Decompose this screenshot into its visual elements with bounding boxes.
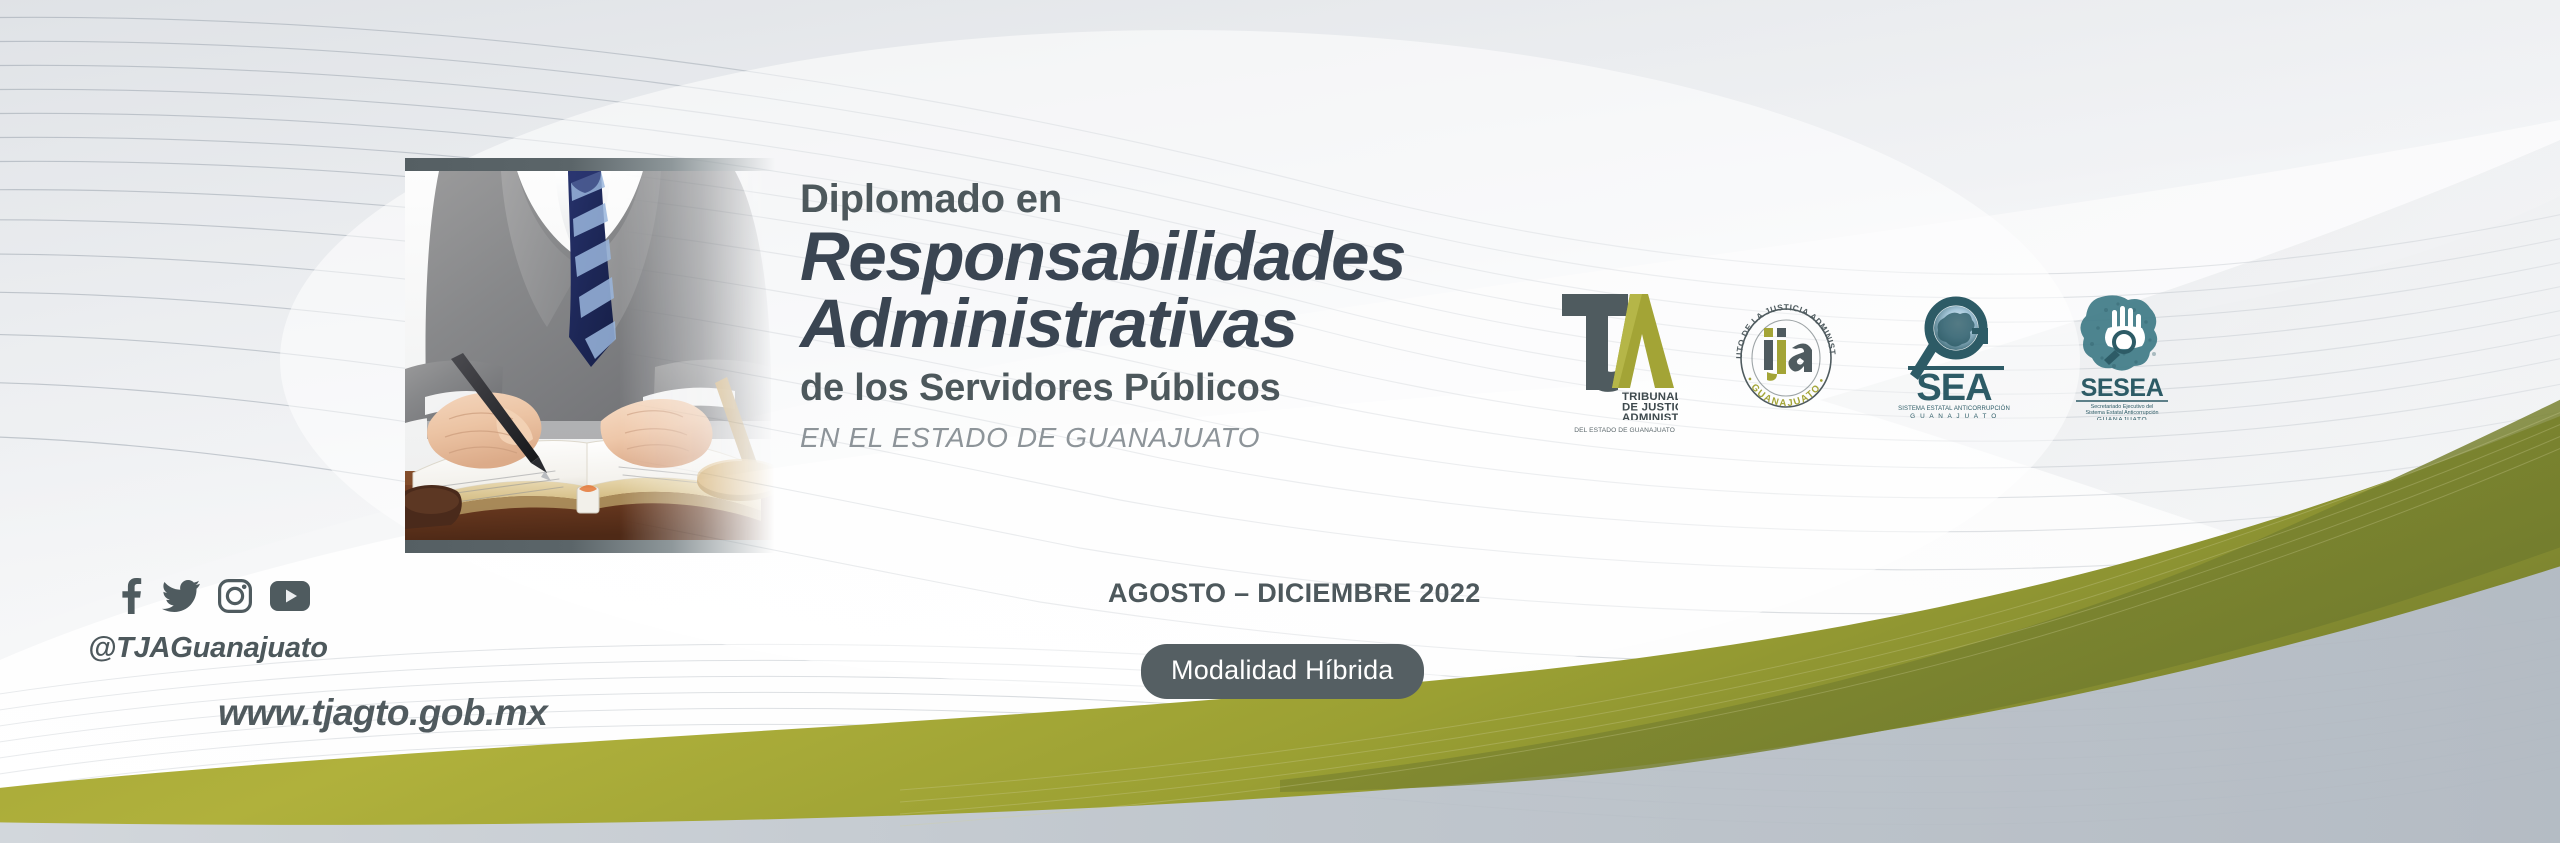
heading-main-line-2: Administrativas — [800, 289, 1580, 358]
logo-sesea-mark: SESEA Secretariado Ejecutivo del Sistema… — [2058, 288, 2186, 420]
website-url[interactable]: www.tjagto.gob.mx — [218, 692, 547, 734]
logo-sea-wordmark: SEA — [1916, 367, 1992, 409]
photo-frame-top-bar — [405, 158, 775, 171]
instagram-icon[interactable] — [218, 579, 252, 618]
hero-photo — [405, 158, 775, 553]
social-icons — [118, 578, 310, 619]
logo-tja: TRIBUNAL DE JUSTICIA ADMINISTRATIVA DEL … — [1556, 288, 1678, 435]
logo-tja-subline: DEL ESTADO DE GUANAJUATO — [1556, 423, 1678, 435]
banner-root: Diplomado en Responsabilidades Administr… — [0, 0, 2560, 843]
modality-badge[interactable]: Modalidad Híbrida — [1141, 644, 1424, 699]
logo-sea-mark: SEA SISTEMA ESTATAL ANTICORRUPCIÓN G U A… — [1894, 288, 2014, 420]
logo-sea: SEA SISTEMA ESTATAL ANTICORRUPCIÓN G U A… — [1894, 288, 2014, 425]
title-block: Diplomado en Responsabilidades Administr… — [800, 178, 1580, 454]
photo-frame-bottom-bar — [405, 540, 775, 553]
logo-ija-ring-bottom: • GUANAJUATO • — [1744, 375, 1829, 409]
logo-sesea-line3: GUANAJUATO — [2097, 417, 2147, 421]
heading-pretitle: Diplomado en — [800, 178, 1580, 220]
svg-text:DEL ESTADO DE GUANAJUATO: DEL ESTADO DE GUANAJUATO — [1574, 427, 1675, 434]
photo-image — [405, 171, 775, 540]
logo-sea-line1: SISTEMA ESTATAL ANTICORRUPCIÓN — [1898, 405, 2010, 412]
logo-ija-mark: INSTITUTO DE LA JUSTICIA ADMINISTRATIVA … — [1722, 288, 1850, 420]
logo-ija: INSTITUTO DE LA JUSTICIA ADMINISTRATIVA … — [1722, 288, 1850, 425]
heading-main-line-1: Responsabilidades — [800, 222, 1580, 291]
logo-tja-mark: TRIBUNAL DE JUSTICIA ADMINISTRATIVA — [1556, 288, 1678, 420]
logo-sesea-line2: Sistema Estatal Anticorrupción — [2085, 410, 2158, 416]
photo-illustration — [405, 171, 775, 540]
youtube-icon[interactable] — [270, 581, 310, 616]
logo-sesea: SESEA Secretariado Ejecutivo del Sistema… — [2058, 288, 2186, 425]
heading-subtitle: de los Servidores Públicos — [800, 368, 1580, 410]
logo-strip: TRIBUNAL DE JUSTICIA ADMINISTRATIVA DEL … — [1556, 288, 2186, 435]
logo-sesea-wordmark: SESEA — [2081, 374, 2164, 402]
logo-sea-line2: G U A N A J U A T O — [1910, 413, 1998, 420]
heading-state: EN EL ESTADO DE GUANAJUATO — [800, 422, 1580, 454]
twitter-icon[interactable] — [162, 580, 200, 617]
logo-tja-line3: ADMINISTRATIVA — [1622, 412, 1678, 420]
date-range: AGOSTO – DICIEMBRE 2022 — [1108, 578, 1481, 609]
social-handle[interactable]: @TJAGuanajuato — [88, 632, 328, 665]
facebook-icon[interactable] — [118, 578, 144, 619]
